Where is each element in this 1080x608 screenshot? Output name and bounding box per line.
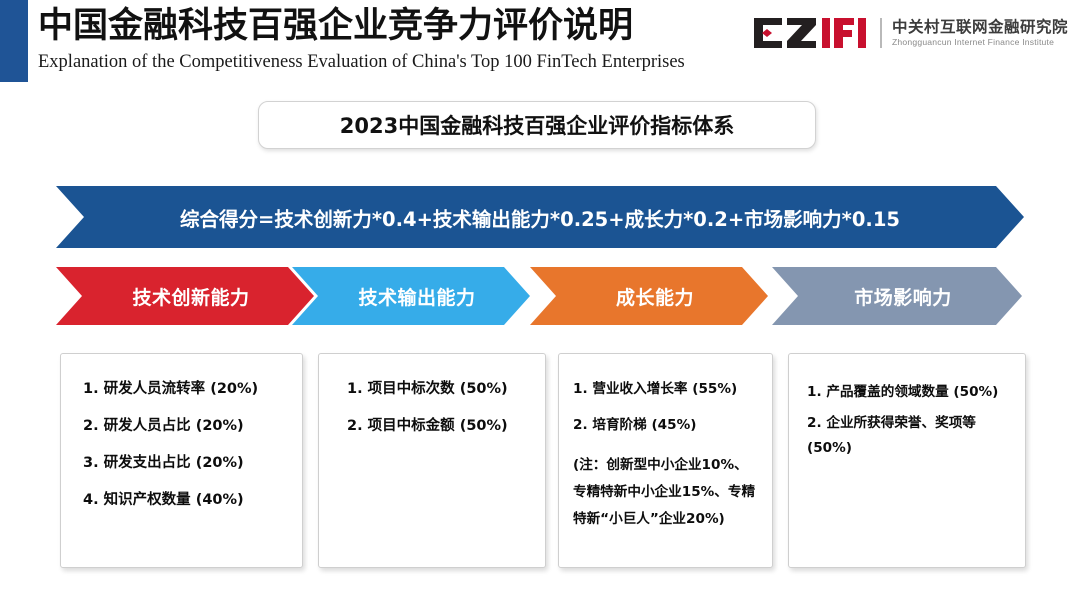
indicator-list-3: 1. 营业收入增长率 (55%) 2. 培育阶梯 (45%)	[573, 380, 758, 434]
slide-canvas: 中国金融科技百强企业竞争力评价说明 Explanation of the Com…	[0, 0, 1080, 608]
institute-name-cn: 中关村互联网金融研究院	[892, 18, 1068, 36]
indicator-list-1: 1. 研发人员流转率 (20%) 2. 研发人员占比 (20%) 3. 研发支出…	[83, 380, 288, 509]
list-item: 1. 研发人员流转率 (20%)	[83, 380, 288, 398]
chevron-label-0: 技术创新能力	[120, 283, 249, 310]
chevron-growth-capability[interactable]: 成长能力	[530, 267, 768, 325]
header-title-group: 中国金融科技百强企业竞争力评价说明 Explanation of the Com…	[38, 4, 685, 74]
list-item: 1. 产品覆盖的领域数量 (50%)	[807, 380, 1011, 405]
list-item: 1. 项目中标次数 (50%)	[347, 380, 531, 398]
list-item: 4. 知识产权数量 (40%)	[83, 491, 288, 509]
chevron-technology-innovation[interactable]: 技术创新能力	[56, 267, 314, 325]
index-system-title: 2023中国金融科技百强企业评价指标体系	[340, 110, 734, 140]
indicator-card-growth-capability: 1. 营业收入增长率 (55%) 2. 培育阶梯 (45%) (注：创新型中小企…	[558, 353, 773, 568]
chevron-technology-output[interactable]: 技术输出能力	[292, 267, 530, 325]
chevron-market-influence[interactable]: 市场影响力	[772, 267, 1022, 325]
institute-logo: 中关村互联网金融研究院 Zhongguancun Internet Financ…	[752, 12, 1068, 54]
chevron-label-1: 技术输出能力	[346, 283, 475, 310]
logo-divider	[880, 18, 882, 48]
indicator-list-2: 1. 项目中标次数 (50%) 2. 项目中标金额 (50%)	[347, 380, 531, 435]
list-item: 2. 研发人员占比 (20%)	[83, 417, 288, 435]
list-item: 3. 研发支出占比 (20%)	[83, 454, 288, 472]
header-accent-bar	[0, 0, 28, 82]
dimension-chevron-row: 技术创新能力 技术输出能力 成长能力 市场影响力	[56, 267, 1024, 325]
index-system-title-box: 2023中国金融科技百强企业评价指标体系	[258, 101, 816, 149]
indicator-card-market-influence: 1. 产品覆盖的领域数量 (50%) 2. 企业所获得荣誉、奖项等 (50%)	[788, 353, 1026, 568]
page-title: 中国金融科技百强企业竞争力评价说明	[38, 4, 685, 48]
indicator-card-technology-output: 1. 项目中标次数 (50%) 2. 项目中标金额 (50%)	[318, 353, 546, 568]
indicator-note-3: (注：创新型中小企业10%、专精特新中小企业15%、专精特新“小巨人”企业20%…	[573, 452, 758, 533]
list-item: 2. 培育阶梯 (45%)	[573, 416, 758, 434]
chevron-label-3: 市场影响力	[842, 283, 952, 310]
score-formula-text: 综合得分=技术创新力*0.4+技术输出能力*0.25+成长力*0.2+市场影响力…	[180, 203, 900, 232]
institute-name-en: Zhongguancun Internet Finance Institute	[892, 36, 1068, 48]
chevron-label-2: 成长能力	[604, 283, 694, 310]
logo-text-group: 中关村互联网金融研究院 Zhongguancun Internet Financ…	[892, 18, 1068, 48]
page-subtitle-en: Explanation of the Competitiveness Evalu…	[38, 50, 685, 74]
slide-header: 中国金融科技百强企业竞争力评价说明 Explanation of the Com…	[0, 0, 1080, 90]
indicator-card-technology-innovation: 1. 研发人员流转率 (20%) 2. 研发人员占比 (20%) 3. 研发支出…	[60, 353, 303, 568]
czifi-logo-icon	[752, 16, 870, 50]
list-item: 2. 企业所获得荣誉、奖项等 (50%)	[807, 411, 1011, 461]
list-item: 2. 项目中标金额 (50%)	[347, 417, 531, 435]
list-item: 1. 营业收入增长率 (55%)	[573, 380, 758, 398]
score-formula-banner: 综合得分=技术创新力*0.4+技术输出能力*0.25+成长力*0.2+市场影响力…	[56, 186, 1024, 248]
indicator-list-4: 1. 产品覆盖的领域数量 (50%) 2. 企业所获得荣誉、奖项等 (50%)	[807, 380, 1011, 461]
